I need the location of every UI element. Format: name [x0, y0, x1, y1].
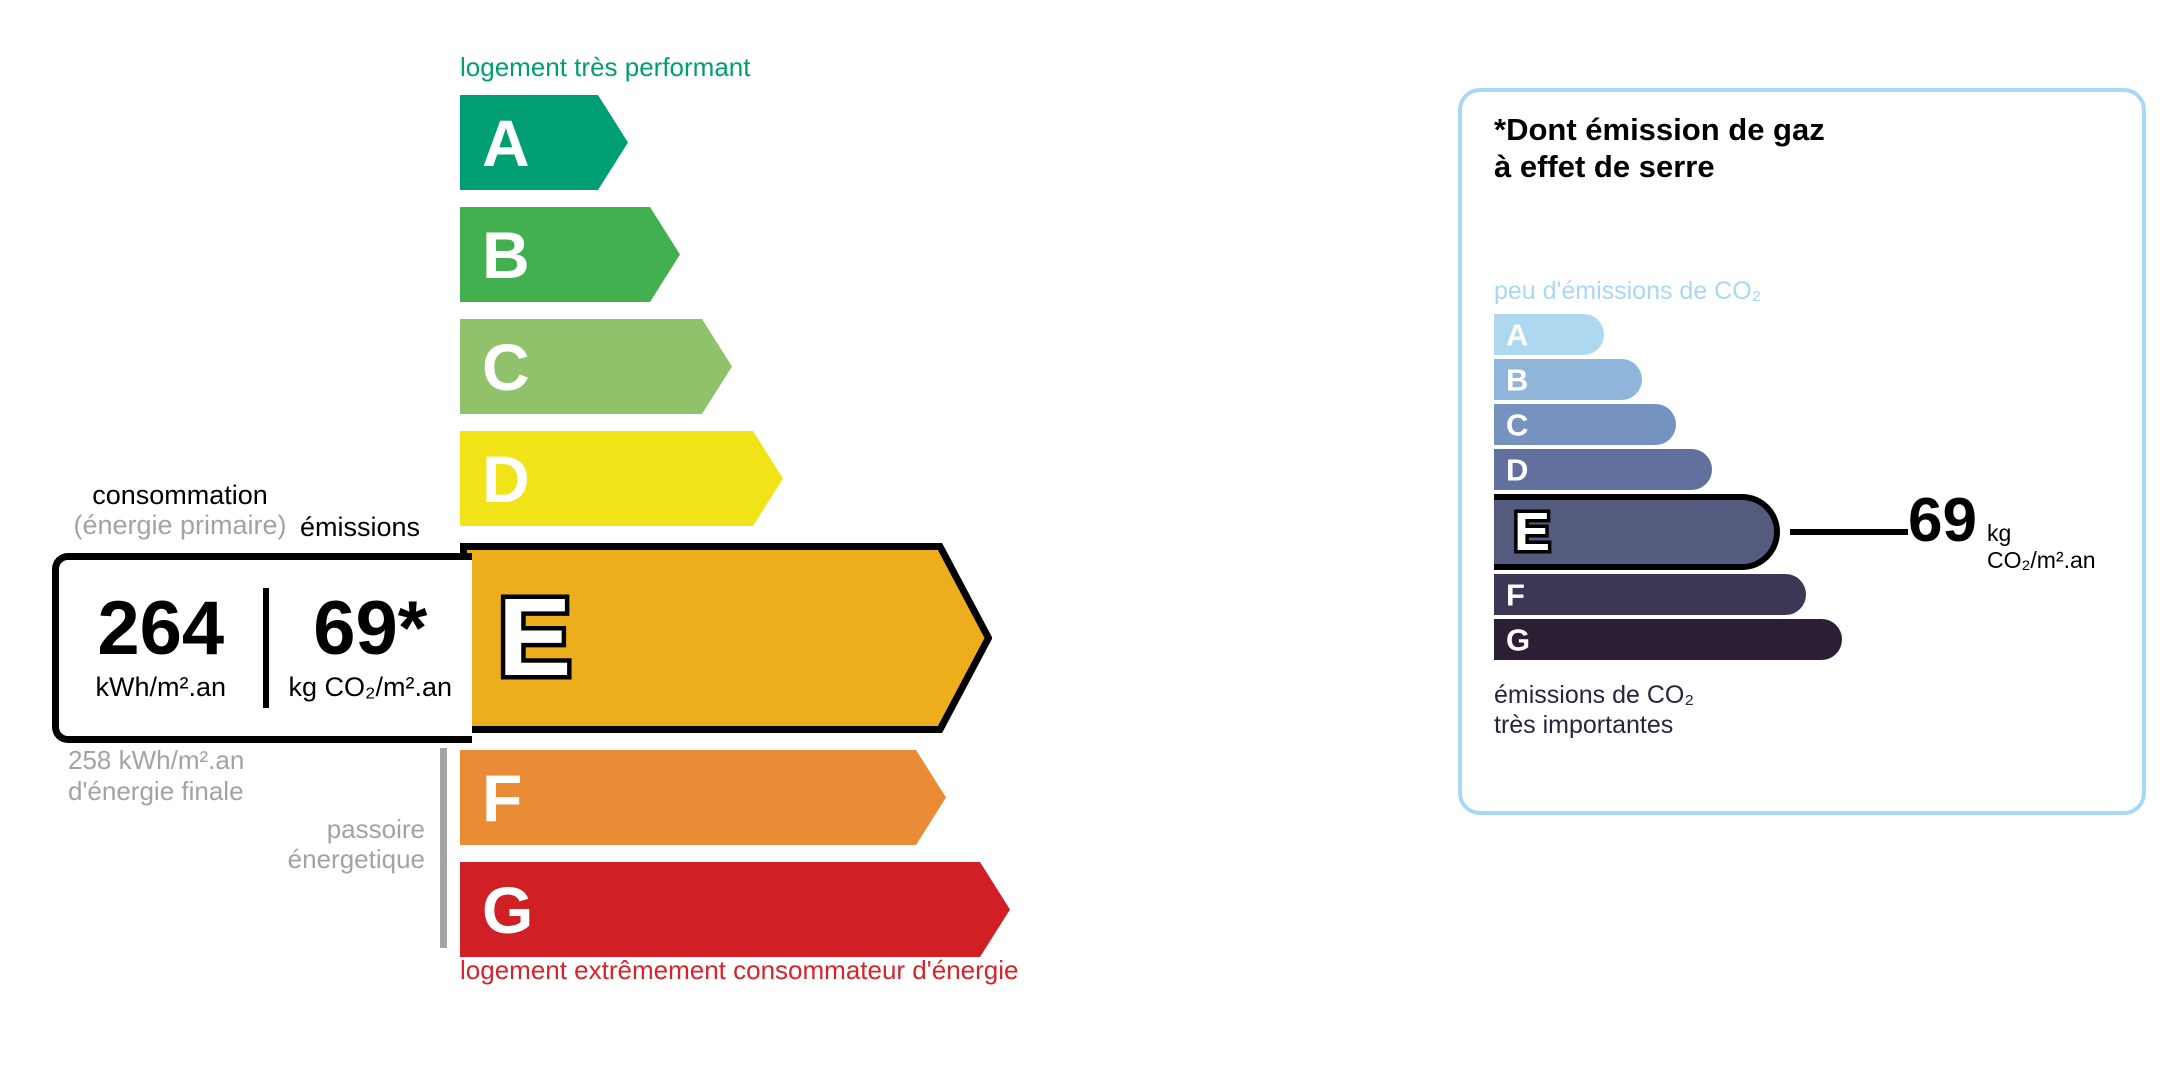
ges-panel: *Dont émission de gaz à effet de serre p…	[1458, 88, 2146, 815]
ges-callout-unit: kg CO₂/m².an	[1987, 520, 2096, 574]
energy-arrow-B: B	[460, 207, 1010, 302]
passoire-bracket	[440, 748, 447, 948]
ges-title: *Dont émission de gaz à effet de serre	[1494, 112, 1825, 185]
consumption-value: 264	[59, 593, 263, 665]
consumption-cell: 264 kWh/m².an	[59, 593, 263, 702]
ges-class-bars: ABCDE69kg CO₂/m².anFG	[1494, 314, 1842, 664]
emission-value: 69*	[269, 593, 473, 665]
energy-class-row-B: B	[460, 207, 1010, 302]
emission-unit: kg CO₂/m².an	[269, 672, 473, 703]
energy-class-row-C: C	[460, 319, 1010, 414]
ges-class-row-C: C	[1494, 404, 1842, 445]
ges-high-label: émissions de CO₂ très importantes	[1494, 680, 1694, 740]
ges-callout: 69kg CO₂/m².an	[1908, 490, 2096, 574]
energy-arrow-A: A	[460, 95, 1010, 190]
energy-class-row-D: D	[460, 431, 1010, 526]
energy-class-letter-F: F	[482, 765, 522, 831]
ges-low-label: peu d'émissions de CO₂	[1494, 277, 1761, 306]
emissions-label: émissions	[300, 512, 420, 543]
ges-class-row-G: G	[1494, 619, 1842, 660]
ges-bar-B: B	[1494, 359, 1642, 400]
final-energy-note: 258 kWh/m².an d'énergie finale	[68, 745, 244, 807]
energy-arrow-F: F	[460, 750, 1010, 845]
value-box: 264 kWh/m².an 69* kg CO₂/m².an	[52, 553, 472, 743]
ges-class-row-A: A	[1494, 314, 1842, 355]
energy-arrow-G: G	[460, 862, 1010, 957]
ges-callout-value: 69	[1908, 490, 1977, 552]
ges-class-letter-C: C	[1506, 409, 1528, 440]
energy-class-letter-D: D	[482, 446, 530, 512]
energy-class-letter-B: B	[482, 222, 530, 288]
primary-energy-label: (énergie primaire)	[60, 510, 300, 540]
ges-bar-A: A	[1494, 314, 1604, 355]
energy-class-letter-A: A	[482, 110, 530, 176]
energy-class-row-F: F	[460, 750, 1010, 845]
ges-bar-F: F	[1494, 574, 1806, 615]
bottom-caption: logement extrêmement consommateur d'éner…	[460, 955, 1018, 986]
ges-class-row-D: D	[1494, 449, 1842, 490]
ges-bar-D: D	[1494, 449, 1712, 490]
ges-bar-G: G	[1494, 619, 1842, 660]
energy-class-arrows: A B C D E F G	[460, 95, 1010, 974]
ges-class-letter-F: F	[1506, 579, 1525, 610]
energy-arrow-E: E	[460, 543, 1010, 733]
consumption-unit: kWh/m².an	[59, 672, 263, 703]
energy-class-row-E: E	[460, 543, 1010, 733]
energy-class-letter-E: E	[498, 583, 571, 693]
energy-class-row-A: A	[460, 95, 1010, 190]
top-caption: logement très performant	[460, 52, 750, 83]
energy-class-row-G: G	[460, 862, 1010, 957]
passoire-energetique-note: passoire énergetique	[230, 815, 425, 875]
ges-class-letter-E: E	[1514, 505, 1550, 559]
ges-class-row-B: B	[1494, 359, 1842, 400]
ges-callout-leader-line	[1790, 529, 1908, 535]
ges-bar-E: E	[1494, 494, 1780, 570]
energy-performance-diagram: logement très performant A B C D E F G l…	[0, 0, 1400, 1079]
ges-class-letter-B: B	[1506, 364, 1528, 395]
energy-arrow-D: D	[460, 431, 1010, 526]
ges-class-row-F: F	[1494, 574, 1842, 615]
ges-class-letter-G: G	[1506, 624, 1530, 655]
energy-arrow-C: C	[460, 319, 1010, 414]
ges-class-letter-D: D	[1506, 454, 1528, 485]
emission-cell: 69* kg CO₂/m².an	[269, 593, 473, 702]
energy-class-letter-G: G	[482, 877, 533, 943]
ges-class-letter-A: A	[1506, 319, 1528, 350]
ges-class-row-E: E69kg CO₂/m².an	[1494, 494, 1842, 570]
consumption-label-text: consommation	[92, 480, 268, 510]
consumption-label: consommation (énergie primaire)	[60, 480, 300, 540]
energy-class-letter-C: C	[482, 334, 530, 400]
ges-bar-C: C	[1494, 404, 1676, 445]
